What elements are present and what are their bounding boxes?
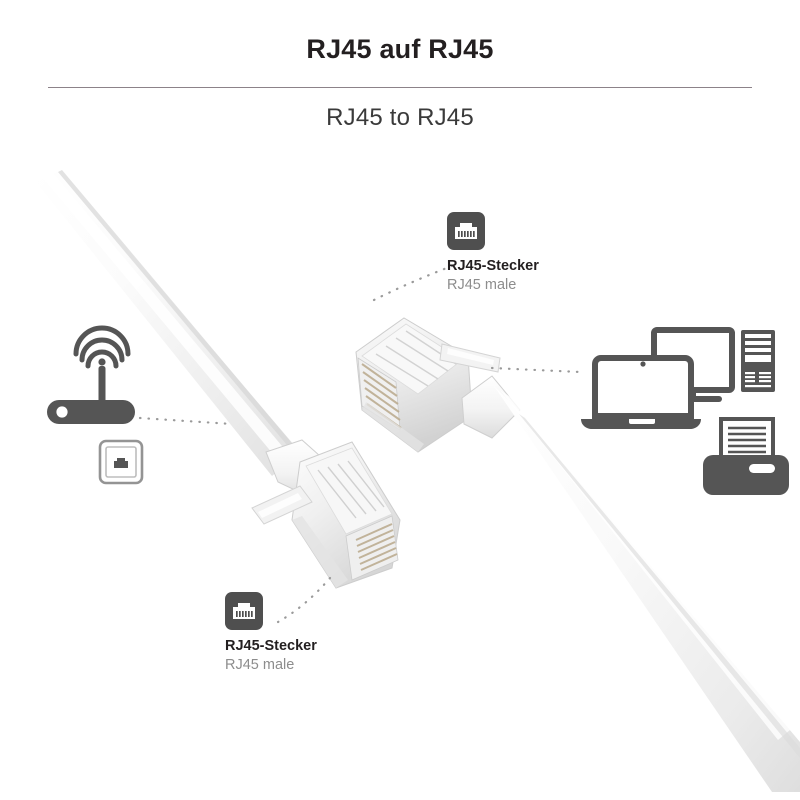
product-infographic: RJ45 auf RJ45 RJ45 to RJ45 — [0, 0, 800, 800]
rj45-port-icon — [447, 212, 485, 250]
leader-line-router — [140, 418, 232, 424]
wall-socket-icon — [100, 441, 142, 483]
cable-artwork — [0, 0, 800, 800]
cable-left-segment — [36, 170, 301, 476]
leader-line-top-callout — [374, 266, 452, 300]
callout-label-en: RJ45 male — [225, 657, 317, 673]
callout-label-de: RJ45-Stecker — [447, 258, 539, 274]
callout-label-de: RJ45-Stecker — [225, 638, 317, 654]
rj45-port-glyph — [225, 592, 263, 630]
printer-icon — [703, 419, 789, 495]
rj45-port-glyph — [447, 212, 485, 250]
callout-bottom: RJ45-Stecker RJ45 male — [225, 592, 317, 673]
leader-line-devices — [492, 368, 580, 372]
rj45-port-icon — [225, 592, 263, 630]
pc-tower-icon — [741, 330, 775, 392]
callout-top: RJ45-Stecker RJ45 male — [447, 212, 539, 293]
rj45-connector-lower — [252, 440, 400, 588]
laptop-icon — [581, 358, 701, 429]
callout-label-en: RJ45 male — [447, 277, 539, 293]
wifi-router-icon — [47, 328, 135, 424]
rj45-connector-upper — [356, 318, 520, 452]
